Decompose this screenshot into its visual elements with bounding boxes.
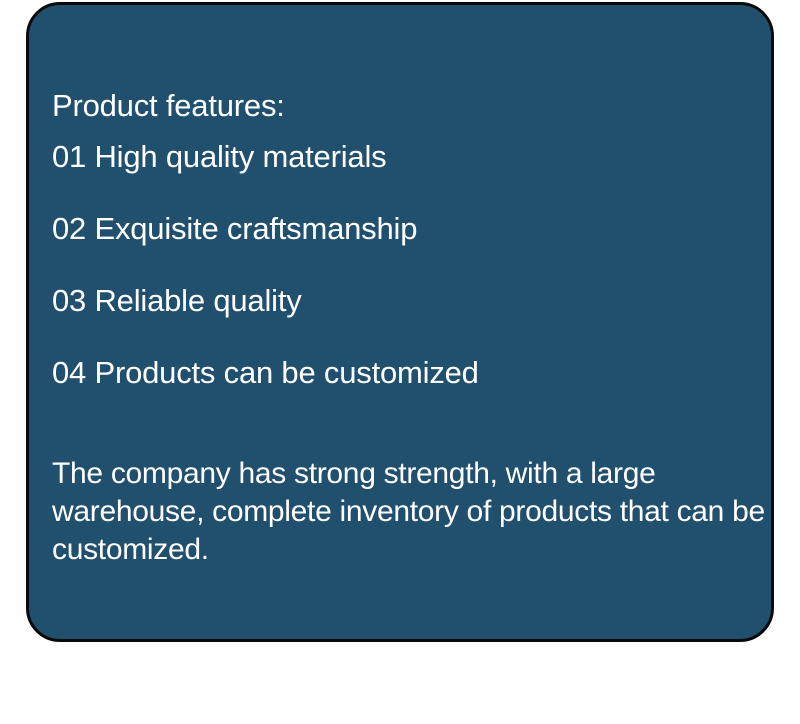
page-canvas: Product features: 01 High quality materi… <box>0 0 800 724</box>
product-features-heading: Product features: <box>52 88 285 124</box>
feature-list-item-04: 04 Products can be customized <box>52 355 479 391</box>
feature-list-item-03: 03 Reliable quality <box>52 283 302 319</box>
company-strength-paragraph: The company has strong strength, with a … <box>52 455 768 569</box>
feature-list-item-02: 02 Exquisite craftsmanship <box>52 211 417 247</box>
feature-list-item-01: 01 High quality materials <box>52 139 386 175</box>
card-content: Product features: 01 High quality materi… <box>52 5 757 639</box>
product-features-card: Product features: 01 High quality materi… <box>26 2 774 642</box>
